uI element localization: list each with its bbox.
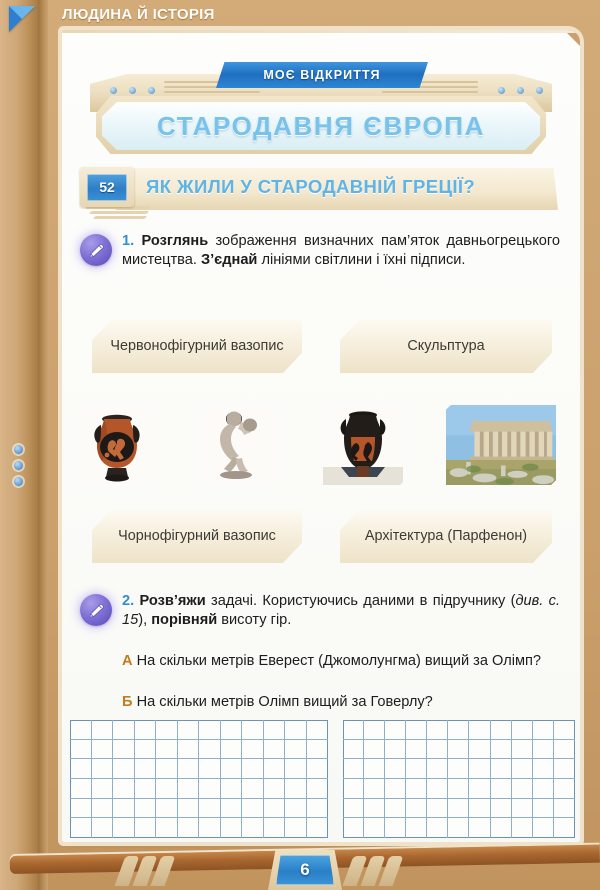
answer-grid-cell[interactable] [554,759,575,779]
answer-grid-row [70,740,328,760]
answer-grid-cell[interactable] [448,720,469,740]
answer-grid-cell[interactable] [343,740,364,760]
answer-grid-cell[interactable] [343,720,364,740]
answer-grid-cell[interactable] [343,759,364,779]
answer-grid-cell[interactable] [533,818,554,838]
answer-grid-cell[interactable] [307,720,329,740]
answer-grid-cell[interactable] [533,779,554,799]
answer-grid-cell[interactable] [92,779,114,799]
answer-grid-cell[interactable] [385,740,406,760]
answer-grid-cell[interactable] [92,759,114,779]
task-2-seg-4: порівняй [151,612,217,628]
answer-grid-cell[interactable] [113,740,135,760]
card-sculpture-label: Скульптура [407,338,484,355]
answer-grid-row [343,818,575,838]
answer-grid-cell[interactable] [307,759,329,779]
task-1-number: 1. [122,233,134,249]
header-dots-right [498,87,543,94]
answer-grid-cell[interactable] [533,759,554,779]
answer-grid-cell[interactable] [343,799,364,819]
answer-grid-row [343,759,575,779]
task-2: 2. Розв’яжи задачі. Користуючись даними … [80,592,560,630]
answer-grid-cell[interactable] [406,740,427,760]
answer-grid-row [70,779,328,799]
picture-discobolus-statue[interactable] [195,400,285,490]
picture-red-figure-amphora[interactable] [72,400,162,490]
answer-grid-cell[interactable] [156,779,178,799]
task-2-seg-5: висоту гір. [217,612,291,628]
answer-grid-row [70,759,328,779]
answer-grid-cell[interactable] [343,779,364,799]
answer-grid-cell[interactable] [221,799,243,819]
answer-grid-cell[interactable] [512,759,533,779]
answer-grid-cell[interactable] [427,779,448,799]
answer-grid-cell[interactable] [364,818,385,838]
lesson-rays-decoration [84,206,204,222]
card-sculpture[interactable]: Скульптура [340,320,552,373]
answer-grid-cell[interactable] [512,740,533,760]
subitem-a-text: На скільки метрів Еверест (Джомолунгма) … [137,653,541,669]
textbook-page: ЛЮДИНА Й ІСТОРІЯ МОЄ ВІДКРИТТЯ СТАРОДАВН… [0,0,600,890]
answer-grid-cell[interactable] [221,740,243,760]
page-footer: 6 [0,838,600,890]
answer-grid-cell[interactable] [554,779,575,799]
answer-grid-cell[interactable] [491,759,512,779]
discovery-ribbon-label: МОЄ ВІДКРИТТЯ [263,68,380,82]
task-1-text: 1. Розглянь зображення визначних пам’ято… [122,232,560,270]
answer-grid-row [70,818,328,838]
answer-grid-cell[interactable] [364,799,385,819]
answer-grid-cell[interactable] [135,818,157,838]
discovery-ribbon: МОЄ ВІДКРИТТЯ [216,62,428,88]
answer-grid-cell[interactable] [364,759,385,779]
answer-grid-cell[interactable] [113,759,135,779]
answer-grid-cell[interactable] [199,779,221,799]
answer-grid-cell[interactable] [156,740,178,760]
answer-grid-cell[interactable] [385,759,406,779]
answer-grid-cell[interactable] [242,720,264,740]
answer-grid-cell[interactable] [533,740,554,760]
answer-grid-cell[interactable] [242,818,264,838]
answer-grid-cell[interactable] [285,759,307,779]
answer-grid-cell[interactable] [343,818,364,838]
answer-grid-cell[interactable] [70,759,92,779]
answer-grid-cell[interactable] [512,799,533,819]
answer-grid-cell[interactable] [469,759,490,779]
answer-grid-cell[interactable] [307,818,329,838]
card-red-figure-label: Червонофігурний вазопис [110,338,283,355]
answer-grid-cell[interactable] [554,740,575,760]
answer-grid-cell[interactable] [307,799,329,819]
answer-grid-cell[interactable] [307,779,329,799]
answer-grid-cell[interactable] [554,720,575,740]
answer-grid-cell[interactable] [135,740,157,760]
answer-grid-cell[interactable] [221,759,243,779]
running-head: ЛЮДИНА Й ІСТОРІЯ [62,6,215,23]
answer-grid-cell[interactable] [448,799,469,819]
answer-grid-cell[interactable] [70,740,92,760]
answer-grid-cell[interactable] [92,818,114,838]
answer-grid-cell[interactable] [427,799,448,819]
lesson-number-badge: 52 [80,167,134,207]
unit-title-plate: СТАРОДАВНЯ ЄВРОПА [102,102,540,150]
answer-grid-cell[interactable] [156,818,178,838]
answer-grid-cell[interactable] [178,720,200,740]
answer-grid-cell[interactable] [554,799,575,819]
task-1-seg-0: Розглянь [142,233,209,249]
lesson-header: 52 ЯК ЖИЛИ У СТАРОДАВНІЙ ГРЕЦІЇ? [80,168,558,220]
answer-grid-cell[interactable] [264,759,286,779]
subitem-b-text: На скільки метрів Олімп вищий за Говерлу… [137,694,433,710]
answer-grid-row [70,799,328,819]
answer-grid-cell[interactable] [554,818,575,838]
answer-grid-cell[interactable] [113,720,135,740]
answer-grid-cell[interactable] [406,759,427,779]
answer-grid-cell[interactable] [406,779,427,799]
footer-fan-left [120,852,240,886]
picture-parthenon[interactable] [441,400,561,490]
answer-grid-cell[interactable] [427,759,448,779]
answer-grid-cell[interactable] [364,779,385,799]
sheet-top-edge [62,30,580,33]
header-dots-left [110,87,155,94]
answer-grid-cell[interactable] [469,818,490,838]
answer-grid-cell[interactable] [264,720,286,740]
task-2-text: 2. Розв’яжи задачі. Користуючись даними … [122,592,560,630]
answer-grid-cell[interactable] [113,799,135,819]
answer-grid-cell[interactable] [242,740,264,760]
answer-grid-cell[interactable] [385,720,406,740]
task-2-subitem-b: Б На скільки метрів Олімп вищий за Говер… [80,693,560,712]
answer-grid-cell[interactable] [156,720,178,740]
answer-grid-cell[interactable] [385,799,406,819]
discovery-header: МОЄ ВІДКРИТТЯ СТАРОДАВНЯ ЄВРОПА [90,52,552,162]
picture-red-figure-amphora-image [77,405,157,485]
answer-grid-cell[interactable] [199,740,221,760]
answer-grid-cell[interactable] [512,720,533,740]
card-black-figure[interactable]: Чорнофігурний вазопис [92,510,302,563]
answer-grid-cell[interactable] [469,779,490,799]
answer-grid-cell[interactable] [448,818,469,838]
answer-grid-cell[interactable] [385,779,406,799]
answer-grid-cell[interactable] [385,818,406,838]
answer-grid-cell[interactable] [221,720,243,740]
picture-discobolus-statue-image [200,405,280,485]
paper-sheet: МОЄ ВІДКРИТТЯ СТАРОДАВНЯ ЄВРОПА 52 ЯК ЖИ… [62,30,580,842]
task-1-seg-2: З’єднай [201,252,257,268]
answer-grid-cell[interactable] [427,818,448,838]
answer-grid-cell[interactable] [92,799,114,819]
answer-grid-cell[interactable] [469,799,490,819]
corner-triangle-icon [9,6,35,32]
answer-grid-cell[interactable] [285,799,307,819]
page-number: 6 [276,855,334,885]
answer-grid-cell[interactable] [135,779,157,799]
answer-grid-cell[interactable] [242,779,264,799]
answer-grid-cell[interactable] [113,818,135,838]
answer-grid-cell[interactable] [178,818,200,838]
answer-grid-cell[interactable] [264,818,286,838]
answer-grid-row [343,799,575,819]
task-2-number: 2. [122,593,134,609]
card-black-figure-label: Чорнофігурний вазопис [118,528,276,545]
answer-grid-cell[interactable] [491,720,512,740]
answer-grid-cell[interactable] [135,799,157,819]
pencil-icon [80,594,112,626]
unit-title: СТАРОДАВНЯ ЄВРОПА [157,111,485,142]
spine-dots-decoration [14,438,23,493]
answer-grid-cell[interactable] [156,759,178,779]
answer-grid-cell[interactable] [533,799,554,819]
answer-grid-cell[interactable] [469,740,490,760]
answer-grid-row [343,740,575,760]
lesson-heading: ЯК ЖИЛИ У СТАРОДАВНІЙ ГРЕЦІЇ? [146,176,475,198]
answer-grid-cell[interactable] [427,720,448,740]
card-red-figure[interactable]: Червонофігурний вазопис [92,320,302,373]
answer-grid-cell[interactable] [512,818,533,838]
task-2-subitem-a: А На скільки метрів Еверест (Джомолунгма… [80,652,560,671]
answer-grid-cell[interactable] [491,799,512,819]
answer-grid-cell[interactable] [178,779,200,799]
answer-grid-a[interactable] [70,720,328,838]
answer-grid-cell[interactable] [307,740,329,760]
task-2-seg-0: Розв’яжи [140,593,206,609]
answer-grid-cell[interactable] [113,779,135,799]
picture-black-figure-amphora[interactable] [318,400,408,490]
task-1-seg-3: лініями світлини і їхні підписи. [257,252,465,268]
answer-grid-cell[interactable] [70,799,92,819]
answer-grid-cell[interactable] [406,818,427,838]
answer-grid-cell[interactable] [448,779,469,799]
answer-grid-cell[interactable] [491,779,512,799]
answer-grid-cell[interactable] [242,799,264,819]
task-2-seg-3: ), [138,612,151,628]
spine-shadow [38,0,48,890]
pencil-icon [80,234,112,266]
answer-grid-cell[interactable] [156,799,178,819]
answer-grid-cell[interactable] [512,779,533,799]
answer-grid-cell[interactable] [199,720,221,740]
task-1: 1. Розглянь зображення визначних пам’ято… [80,232,560,270]
answer-grid-cell[interactable] [285,720,307,740]
answer-grid-cell[interactable] [264,799,286,819]
answer-grid-cell[interactable] [199,799,221,819]
answer-grid-cell[interactable] [285,740,307,760]
answer-grid-cell[interactable] [178,740,200,760]
answer-grid-cell[interactable] [70,818,92,838]
answer-grid-cell[interactable] [533,720,554,740]
answer-grid-cell[interactable] [491,818,512,838]
answer-grid-b[interactable] [343,720,575,838]
answer-grid-cell[interactable] [135,720,157,740]
answer-grid-row [70,720,328,740]
picture-black-figure-amphora-image [323,405,403,485]
answer-grid-cell[interactable] [70,779,92,799]
answer-grid-cell[interactable] [285,779,307,799]
answer-grid-cell[interactable] [70,720,92,740]
answer-grid-cell[interactable] [135,759,157,779]
answer-grid-cell[interactable] [199,818,221,838]
lesson-number: 52 [87,174,127,201]
subitem-a-letter: А [122,653,133,669]
answer-grid-cell[interactable] [264,740,286,760]
answer-grid-cell[interactable] [364,740,385,760]
answer-grid-cell[interactable] [448,740,469,760]
card-architecture-label: Архітектура (Парфенон) [365,528,527,545]
picture-parthenon-image [446,405,556,485]
answer-grid-cell[interactable] [364,720,385,740]
answer-grid-cell[interactable] [406,720,427,740]
card-architecture[interactable]: Архітектура (Парфенон) [340,510,552,563]
answer-grid-cell[interactable] [406,799,427,819]
answer-grid-cell[interactable] [178,799,200,819]
answer-grid-cell[interactable] [427,740,448,760]
footer-fan-right [348,852,468,886]
answer-grid-row [343,779,575,799]
answer-grid-cell[interactable] [178,759,200,779]
answer-grid-cell[interactable] [469,720,490,740]
answer-grid-cell[interactable] [491,740,512,760]
answer-grid-cell[interactable] [448,759,469,779]
answer-grid-cell[interactable] [285,818,307,838]
answer-grid-cell[interactable] [221,779,243,799]
answer-grid-cell[interactable] [92,720,114,740]
subitem-b-letter: Б [122,694,133,710]
answer-grid-cell[interactable] [264,779,286,799]
answer-grid-cell[interactable] [92,740,114,760]
answer-grid-cell[interactable] [221,818,243,838]
answer-grid-cell[interactable] [199,759,221,779]
task-2-seg-1: задачі. Користуючись даними в підручнику… [206,593,516,609]
answer-grid-row [343,720,575,740]
answer-grid-cell[interactable] [242,759,264,779]
